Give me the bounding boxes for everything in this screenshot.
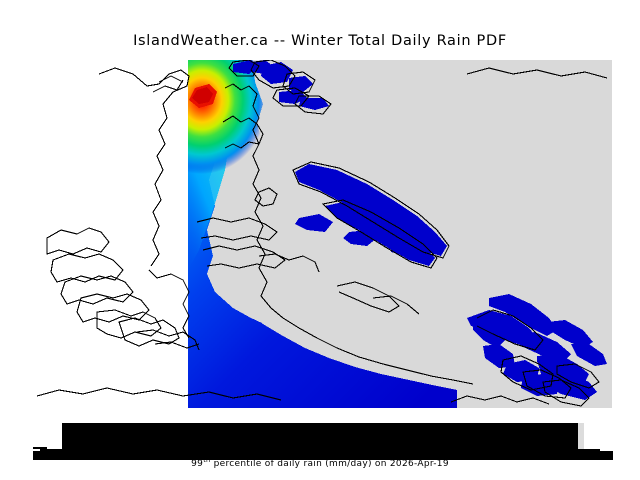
page-title: IslandWeather.ca -- Winter Total Daily R… — [0, 33, 640, 49]
colorbar-min-tick — [33, 447, 47, 449]
colorbar-region — [0, 418, 640, 480]
colorbar — [62, 423, 578, 449]
colorbar-overflow-swatch — [578, 423, 584, 449]
colorbar-caption: 99th percentile of daily rain (mm/day) o… — [0, 456, 640, 469]
rainfall-heatmap — [37, 60, 612, 408]
caption-text: percentile of daily rain (mm/day) on 202… — [210, 459, 448, 469]
colorbar-axis-line — [40, 449, 600, 452]
map-panel — [37, 60, 612, 408]
caption-percentile-number: 99 — [191, 459, 203, 469]
